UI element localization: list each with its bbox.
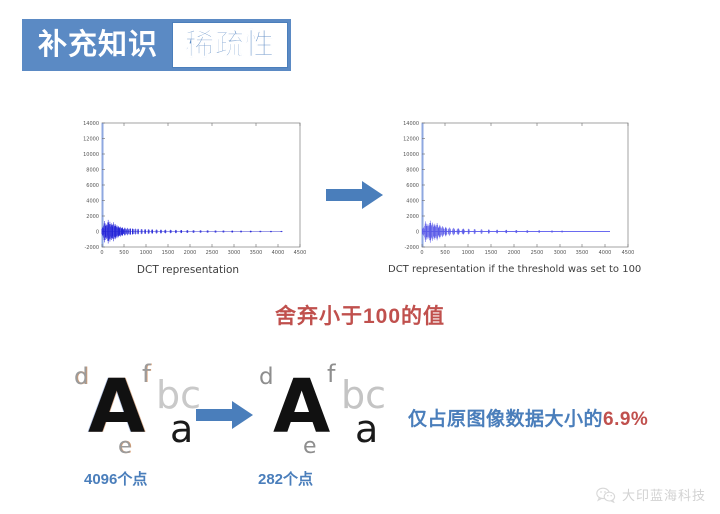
footer-watermark: 大印蓝海科技 <box>596 485 706 504</box>
svg-text:14000: 14000 <box>83 121 99 127</box>
glyph-a: a <box>170 410 193 448</box>
compression-ratio-value: 6.9% <box>603 409 648 430</box>
point-count-original: 4096个点 <box>84 468 147 489</box>
glyph-f: f <box>142 362 150 386</box>
svg-text:2500: 2500 <box>531 250 544 256</box>
svg-text:3000: 3000 <box>228 250 241 256</box>
compression-ratio-statement: 仅占原图像数据大小的6.9% <box>408 404 648 431</box>
glyph-e: e <box>303 436 317 458</box>
svg-text:0: 0 <box>416 230 419 236</box>
svg-text:6000: 6000 <box>406 183 419 189</box>
glyph-e: e <box>118 436 132 458</box>
svg-text:500: 500 <box>119 250 129 256</box>
svg-text:0: 0 <box>420 250 423 256</box>
svg-text:10000: 10000 <box>83 152 99 158</box>
point-count-compressed: 282个点 <box>258 468 313 489</box>
chart-dct-full-plot: 14000 12000 10000 8000 6000 4000 2000 0 … <box>68 115 308 263</box>
svg-text:1000: 1000 <box>140 250 153 256</box>
svg-text:12000: 12000 <box>403 137 419 143</box>
svg-text:-2000: -2000 <box>84 245 99 251</box>
discard-threshold-caption: 舍弃小于100的值 <box>0 300 720 330</box>
svg-text:12000: 12000 <box>83 137 99 143</box>
svg-text:1500: 1500 <box>485 250 498 256</box>
svg-text:14000: 14000 <box>403 121 419 127</box>
svg-text:4000: 4000 <box>599 250 612 256</box>
svg-text:4000: 4000 <box>406 199 419 205</box>
glyph-group-compressed: d A f bc a e <box>245 362 420 462</box>
chart-dct-full-caption: DCT representation <box>68 264 308 276</box>
chart-dct-full: 14000 12000 10000 8000 6000 4000 2000 0 … <box>68 115 308 276</box>
svg-text:10000: 10000 <box>403 152 419 158</box>
svg-text:8000: 8000 <box>86 168 99 174</box>
svg-text:1500: 1500 <box>162 250 175 256</box>
svg-text:0: 0 <box>100 250 103 256</box>
wechat-icon <box>596 487 616 503</box>
glyph-d: d <box>259 366 274 389</box>
svg-text:-2000: -2000 <box>404 245 419 251</box>
arrow-right-icon <box>326 180 384 210</box>
svg-text:1000: 1000 <box>462 250 475 256</box>
svg-text:3500: 3500 <box>250 250 263 256</box>
title-sub-text: 稀疏性 <box>185 31 275 60</box>
glyph-group-original: d A f bc a e <box>60 362 235 462</box>
glyph-a: a <box>355 410 378 448</box>
glyph-A: A <box>88 370 145 444</box>
svg-text:3000: 3000 <box>554 250 567 256</box>
glyph-d: d <box>74 366 89 389</box>
svg-text:6000: 6000 <box>86 183 99 189</box>
svg-text:2000: 2000 <box>406 214 419 220</box>
svg-text:4500: 4500 <box>622 250 635 256</box>
svg-text:2000: 2000 <box>184 250 197 256</box>
svg-text:4000: 4000 <box>272 250 285 256</box>
svg-text:8000: 8000 <box>406 168 419 174</box>
svg-text:500: 500 <box>440 250 450 256</box>
title-main-text: 补充知识 <box>22 19 172 71</box>
title-banner: 补充知识 稀疏性 <box>22 19 291 71</box>
compression-ratio-prefix: 仅占原图像数据大小的 <box>408 409 603 430</box>
svg-text:0: 0 <box>96 230 99 236</box>
chart-dct-thresholded-plot: 14000 12000 10000 8000 6000 4000 2000 0 … <box>388 115 636 263</box>
svg-text:4500: 4500 <box>294 250 307 256</box>
svg-text:4000: 4000 <box>86 199 99 205</box>
chart-dct-thresholded: 14000 12000 10000 8000 6000 4000 2000 0 … <box>388 115 636 275</box>
svg-text:3500: 3500 <box>576 250 589 256</box>
glyph-f: f <box>327 362 335 386</box>
footer-label: 大印蓝海科技 <box>622 485 706 504</box>
chart-dct-thresholded-caption: DCT representation if the threshold was … <box>388 264 636 275</box>
svg-text:2000: 2000 <box>508 250 521 256</box>
svg-text:2500: 2500 <box>206 250 219 256</box>
svg-text:2000: 2000 <box>86 214 99 220</box>
glyph-A: A <box>273 370 330 444</box>
title-sub-box: 稀疏性 <box>172 22 288 68</box>
